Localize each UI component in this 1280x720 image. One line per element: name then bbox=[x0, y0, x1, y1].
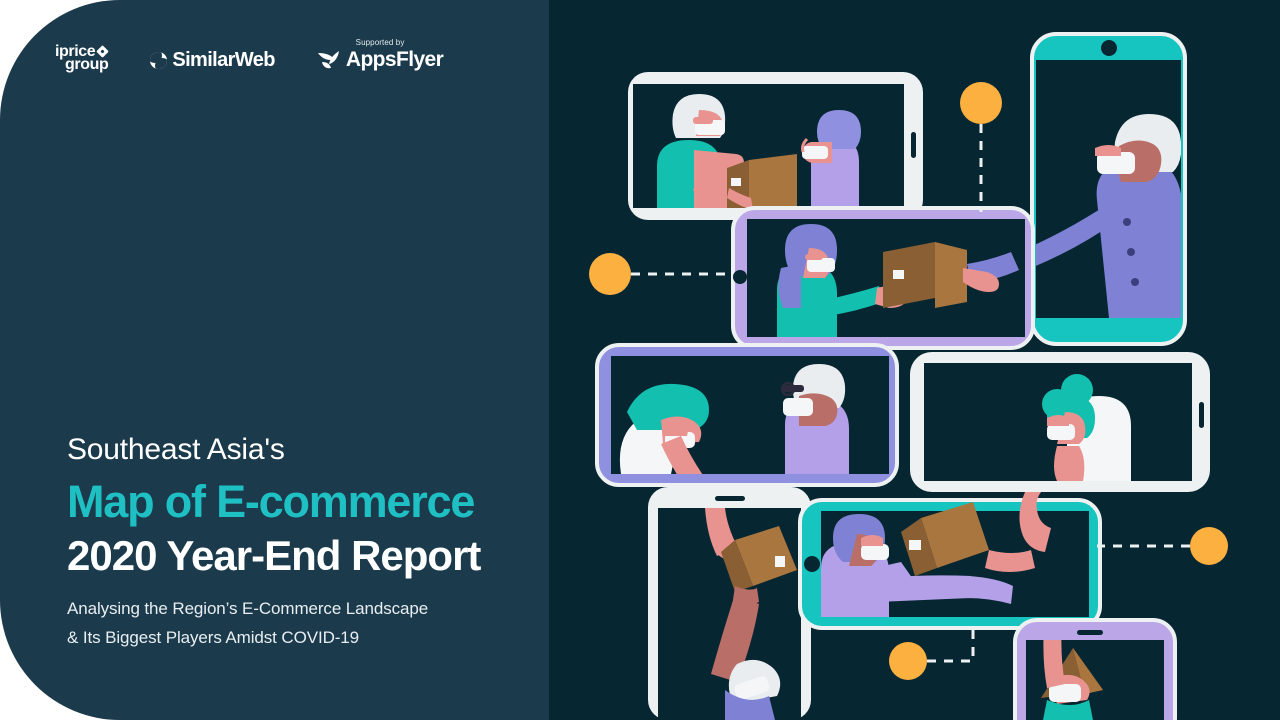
dot-bottom bbox=[889, 642, 927, 680]
title-main: 2020 Year-End Report bbox=[67, 531, 527, 581]
logo-similarweb[interactable]: SimilarWeb bbox=[150, 49, 275, 72]
title-accent: Map of E-commerce bbox=[67, 475, 527, 530]
logo-appsflyer[interactable]: Supported by AppsFlyer bbox=[317, 38, 443, 72]
dot-right bbox=[1190, 527, 1228, 565]
logo-appsflyer-text: AppsFlyer bbox=[346, 48, 443, 72]
phone-speaker-slot bbox=[911, 132, 916, 158]
phone-top-left bbox=[628, 72, 923, 220]
subtitle-block: Analysing the Region’s E-Commerce Landsc… bbox=[67, 594, 527, 652]
subtitle-line-2: & Its Biggest Players Amidst COVID-19 bbox=[67, 623, 527, 652]
logo-iprice-line2: group bbox=[65, 58, 108, 72]
phone-mid-left bbox=[597, 345, 897, 490]
similarweb-swirl-icon bbox=[150, 52, 167, 69]
phone-camera-dot bbox=[1101, 40, 1117, 56]
eyebrow-text: Southeast Asia's bbox=[67, 432, 527, 467]
logo-iprice-group[interactable]: iprice group bbox=[55, 45, 108, 73]
phone-speaker-slot bbox=[1077, 630, 1103, 635]
right-panel bbox=[549, 0, 1280, 720]
phone-mid-right bbox=[910, 352, 1210, 492]
phone-camera-dot bbox=[733, 270, 747, 284]
phone-camera-dot bbox=[804, 556, 820, 572]
subtitle-line-1: Analysing the Region’s E-Commerce Landsc… bbox=[67, 594, 527, 623]
phone-lower-left bbox=[648, 487, 811, 720]
phone-camera-dot bbox=[871, 406, 887, 422]
headline-block: Southeast Asia's Map of E-commerce 2020 … bbox=[67, 432, 527, 652]
parcel bbox=[883, 242, 967, 308]
phone-speaker-slot bbox=[1199, 402, 1204, 428]
logo-similarweb-text: SimilarWeb bbox=[172, 49, 275, 72]
slide-canvas: iprice group SimilarWeb Supported by App… bbox=[0, 0, 1280, 720]
phone-center bbox=[733, 208, 1033, 348]
appsflyer-supported-by-label: Supported by bbox=[356, 38, 405, 47]
phone-bottom-right bbox=[1015, 612, 1175, 720]
logo-bar: iprice group SimilarWeb Supported by App… bbox=[55, 38, 443, 72]
phone-speaker-slot bbox=[715, 496, 745, 501]
dot-left bbox=[589, 253, 631, 295]
dot-top bbox=[960, 82, 1002, 124]
ecommerce-delivery-illustration bbox=[549, 0, 1280, 720]
appsflyer-leaf-icon bbox=[317, 49, 341, 71]
